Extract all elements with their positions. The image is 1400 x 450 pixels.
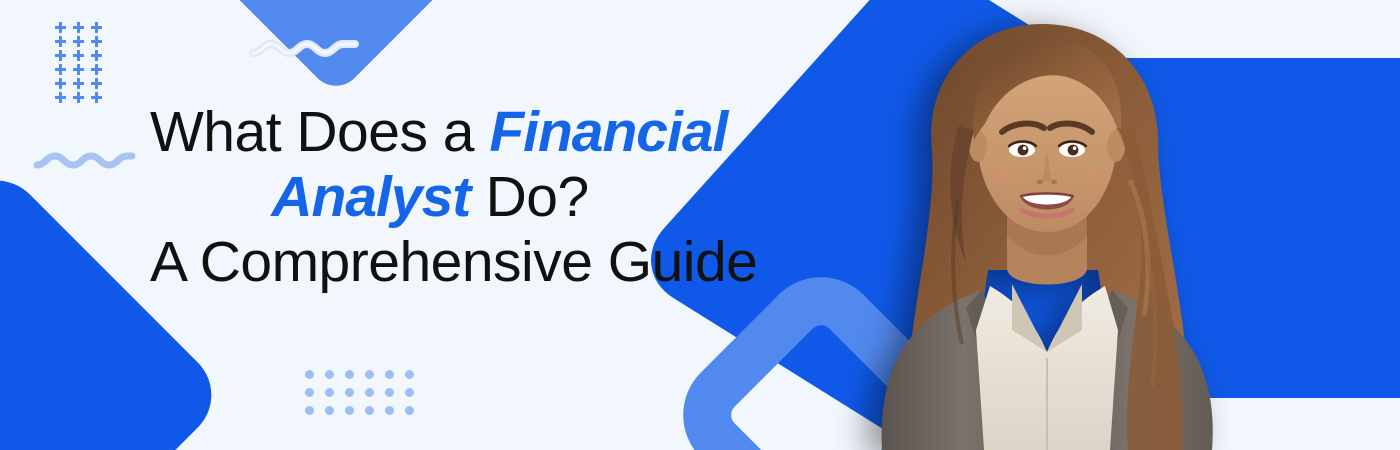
dot-icon bbox=[365, 406, 374, 415]
plus-icon bbox=[73, 50, 91, 64]
dot-icon bbox=[365, 388, 374, 397]
plus-icon bbox=[55, 64, 73, 78]
plus-icon bbox=[55, 50, 73, 64]
decor-plus-grid bbox=[55, 22, 109, 106]
plus-icon bbox=[73, 64, 91, 78]
headline-line-1-plain: What Does a bbox=[150, 100, 489, 164]
hero-banner: What Does a Financial Analyst Do? A Comp… bbox=[0, 0, 1400, 450]
headline-accent-analyst: Analyst bbox=[271, 165, 470, 229]
plus-icon bbox=[55, 92, 73, 106]
dot-icon bbox=[385, 406, 394, 415]
plus-icon bbox=[55, 36, 73, 50]
plus-icon bbox=[55, 22, 73, 36]
dot-icon bbox=[305, 406, 314, 415]
decor-dot-grid bbox=[305, 370, 425, 424]
analyst-portrait-image bbox=[862, 0, 1232, 450]
plus-icon bbox=[91, 22, 109, 36]
headline-line-3: A Comprehensive Guide bbox=[150, 230, 710, 295]
plus-icon bbox=[73, 36, 91, 50]
headline-accent-financial: Financial bbox=[489, 100, 727, 164]
dot-icon bbox=[405, 388, 414, 397]
headline-line-2-plain: Do? bbox=[470, 165, 588, 229]
decor-wave-left-icon bbox=[32, 148, 137, 179]
dot-icon bbox=[345, 388, 354, 397]
dot-icon bbox=[405, 370, 414, 379]
plus-icon bbox=[91, 92, 109, 106]
plus-icon bbox=[55, 78, 73, 92]
plus-icon bbox=[91, 78, 109, 92]
headline-line-1: What Does a Financial bbox=[150, 100, 710, 165]
dot-icon bbox=[385, 370, 394, 379]
headline-line-2: Analyst Do? bbox=[150, 165, 710, 230]
dot-icon bbox=[325, 388, 334, 397]
dot-icon bbox=[305, 370, 314, 379]
dot-icon bbox=[405, 406, 414, 415]
dot-icon bbox=[325, 370, 334, 379]
plus-icon bbox=[73, 92, 91, 106]
page-title: What Does a Financial Analyst Do? A Comp… bbox=[150, 100, 710, 295]
dot-icon bbox=[305, 388, 314, 397]
plus-icon bbox=[91, 50, 109, 64]
plus-icon bbox=[73, 78, 91, 92]
decor-wave-top-icon bbox=[243, 33, 369, 72]
dot-icon bbox=[325, 406, 334, 415]
dot-icon bbox=[365, 370, 374, 379]
dot-icon bbox=[345, 370, 354, 379]
plus-icon bbox=[91, 64, 109, 78]
plus-icon bbox=[73, 22, 91, 36]
dot-icon bbox=[385, 388, 394, 397]
plus-icon bbox=[91, 36, 109, 50]
dot-icon bbox=[345, 406, 354, 415]
